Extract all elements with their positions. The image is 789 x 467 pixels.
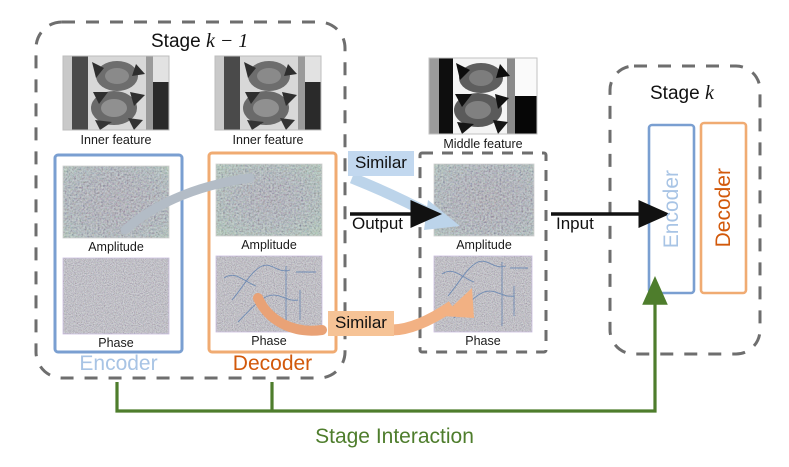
- middle-phase-caption: Phase: [434, 335, 532, 349]
- encoder-phase-map: [63, 258, 169, 334]
- decoder-inner-feature-thumb: [215, 56, 321, 130]
- middle-inner-feature-caption: Middle feature: [429, 138, 537, 152]
- encoder-inner-feature-thumb: [63, 56, 169, 130]
- stage-interaction-label: Stage Interaction: [0, 425, 789, 449]
- encoder-phase-caption: Phase: [63, 337, 169, 351]
- stage-k-decoder-label-wrap: Decoder: [701, 123, 746, 293]
- left-decoder-label: Decoder: [209, 352, 336, 376]
- encoder-amplitude-map: [63, 166, 169, 238]
- stage-title-prefix: Stage: [151, 31, 206, 52]
- decoder-phase-caption: Phase: [216, 335, 322, 349]
- diagram-canvas: Stage k − 1 Stage k Inner feature Inner …: [0, 0, 789, 467]
- stage-k-title-math: k: [705, 82, 714, 104]
- stage-k-encoder-label-wrap: Encoder: [649, 125, 694, 293]
- similar-phase-badge: Similar: [328, 311, 394, 336]
- output-label: Output: [352, 214, 403, 234]
- middle-inner-feature-thumb: [429, 58, 537, 134]
- stage-k-encoder-label: Encoder: [660, 170, 684, 248]
- stage-k-title-prefix: Stage: [650, 83, 705, 104]
- decoder-amplitude-map: [216, 164, 322, 236]
- similar-amplitude-badge: Similar: [348, 151, 414, 176]
- stage-title-math: k − 1: [206, 30, 248, 52]
- left-encoder-label: Encoder: [55, 352, 182, 376]
- encoder-inner-feature-caption: Inner feature: [63, 134, 169, 148]
- middle-phase-map: [434, 256, 532, 332]
- decoder-inner-feature-caption: Inner feature: [215, 134, 321, 148]
- middle-amplitude-caption: Amplitude: [434, 239, 534, 253]
- input-label: Input: [556, 214, 594, 234]
- stage-k-minus-1-title: Stage k − 1: [151, 30, 248, 53]
- encoder-amplitude-caption: Amplitude: [63, 241, 169, 255]
- decoder-amplitude-caption: Amplitude: [216, 239, 322, 253]
- stage-k-decoder-label: Decoder: [712, 168, 736, 247]
- stage-k-title: Stage k: [650, 82, 714, 105]
